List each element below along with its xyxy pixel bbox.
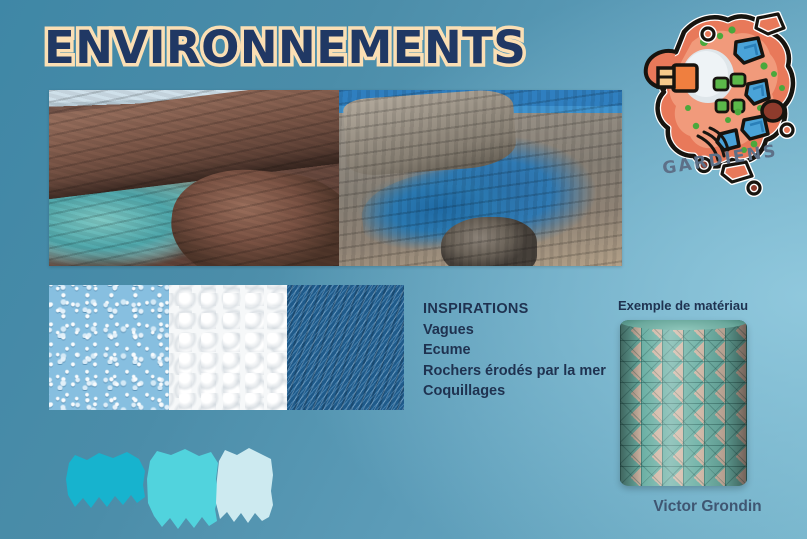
photo-tide-pool bbox=[339, 90, 622, 266]
inspiration-item-rochers: Rochers érodés par la mer bbox=[423, 361, 606, 382]
photo-red-rocks bbox=[49, 90, 339, 266]
photo-boulder-shape bbox=[165, 162, 339, 266]
material-author: Victor Grondin bbox=[600, 498, 807, 516]
inspirations-heading: INSPIRATIONS bbox=[423, 299, 606, 320]
inspirations-block: INSPIRATIONS Vagues Ecume Rochers érodés… bbox=[423, 299, 606, 402]
texture-swatch-foam bbox=[169, 285, 287, 410]
page-title: ENVIRONNEMENTS bbox=[44, 22, 526, 74]
photo-foreground-rock bbox=[441, 217, 537, 266]
texture-swatch-row bbox=[49, 285, 404, 410]
gardiens-logo: GARDIENS bbox=[632, 8, 804, 208]
texture-swatch-deep-water bbox=[287, 285, 404, 410]
inspiration-item-coquillages: Coquillages bbox=[423, 381, 606, 402]
reference-photo-strip bbox=[49, 90, 622, 266]
inspiration-item-ecume: Ecume bbox=[423, 340, 606, 361]
slide-canvas: ENVIRONNEMENTS INSPIRATIONS Vagues Ecume… bbox=[0, 0, 807, 539]
texture-swatch-bubbles bbox=[49, 285, 169, 410]
photo-pool-shape bbox=[358, 162, 541, 261]
material-cylinder bbox=[620, 320, 747, 486]
photo-ridge-shape bbox=[49, 90, 339, 201]
palette-swatch-ice-blue bbox=[215, 447, 275, 523]
material-label: Exemple de matériau bbox=[618, 298, 798, 313]
color-palette-strokes bbox=[65, 432, 275, 537]
palette-swatch-cyan-dark bbox=[65, 451, 147, 513]
palette-swatch-cyan-mid bbox=[145, 447, 221, 529]
photo-slab-shape bbox=[342, 90, 517, 177]
material-sheen bbox=[620, 320, 747, 486]
inspiration-item-vagues: Vagues bbox=[423, 320, 606, 341]
